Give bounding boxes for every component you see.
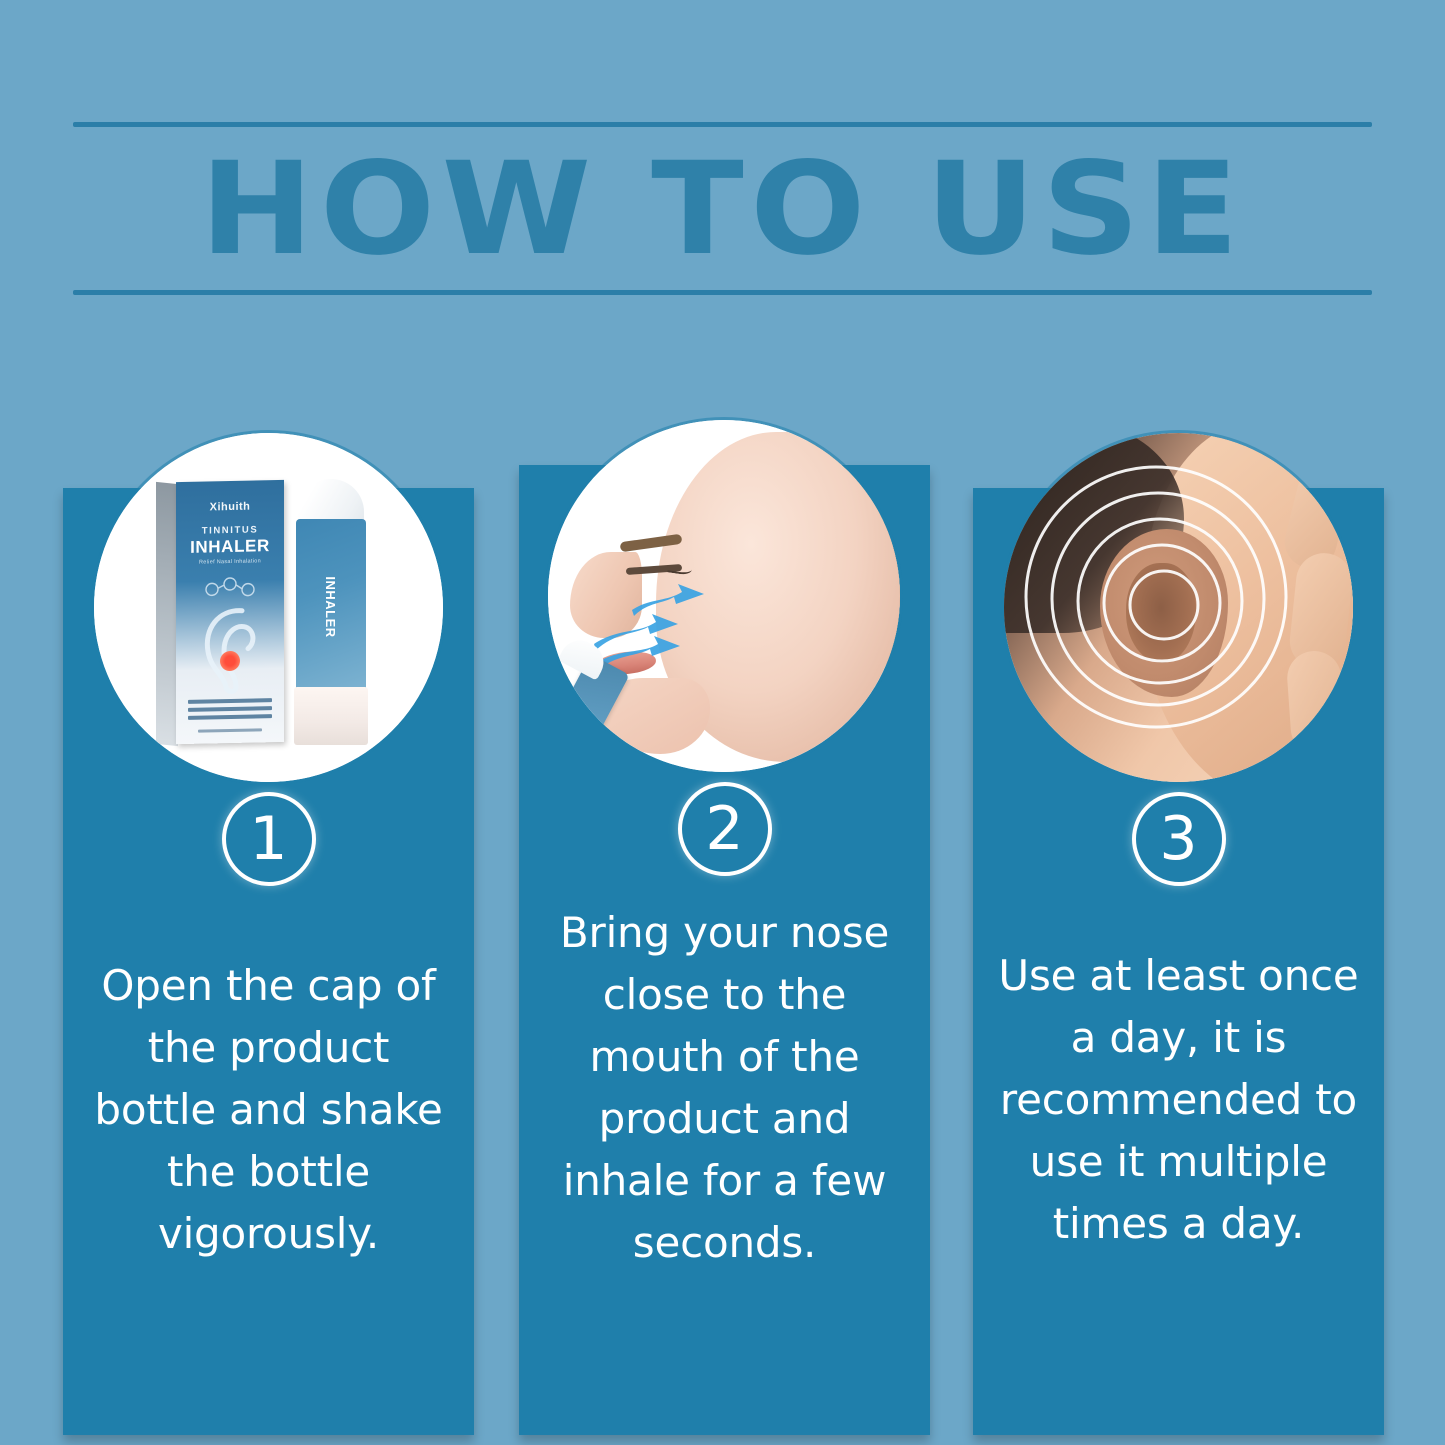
step-caption-3: Use at least once a day, it is recommend… [991,945,1366,1255]
molecule-icon [204,576,256,599]
page-header: HOW TO USE [0,0,1445,330]
package-brand: Xihuith [176,500,284,514]
step-caption-2: Bring your nose close to the mouth of th… [537,902,912,1274]
product-box-front: Xihuith TINNITUS INHALER Relief Nasal In… [176,480,284,744]
header-rule-top [73,122,1372,127]
step-number-badge-1: 1 [222,792,316,886]
package-product-name: INHALER [176,536,284,558]
page-title: HOW TO USE [0,136,1445,284]
sound-wave-rings-icon [1004,433,1353,782]
header-rule-bottom [73,290,1372,295]
step-2-photo [548,420,900,772]
inhaler-bottle: INHALER [292,479,370,747]
step-1-photo: Xihuith TINNITUS INHALER Relief Nasal In… [94,433,443,782]
bottle-label-text: INHALER [296,519,366,695]
package-benefit-lines [188,698,272,724]
bottle-base [294,687,368,745]
steps-container: Xihuith TINNITUS INHALER Relief Nasal In… [0,415,1445,1445]
ear-graphic [196,602,266,695]
package-product-line: TINNITUS [176,524,284,537]
bottle-label: INHALER [296,519,366,695]
step-3-photo [1004,433,1353,782]
product-box-side [156,482,178,746]
package-net-weight-line [198,728,262,732]
step-number-badge-2: 2 [678,782,772,876]
step-caption-1: Open the cap of the product bottle and s… [81,955,456,1265]
package-tagline: Relief Nasal Inhalation [176,558,284,566]
step-number-badge-3: 3 [1132,792,1226,886]
